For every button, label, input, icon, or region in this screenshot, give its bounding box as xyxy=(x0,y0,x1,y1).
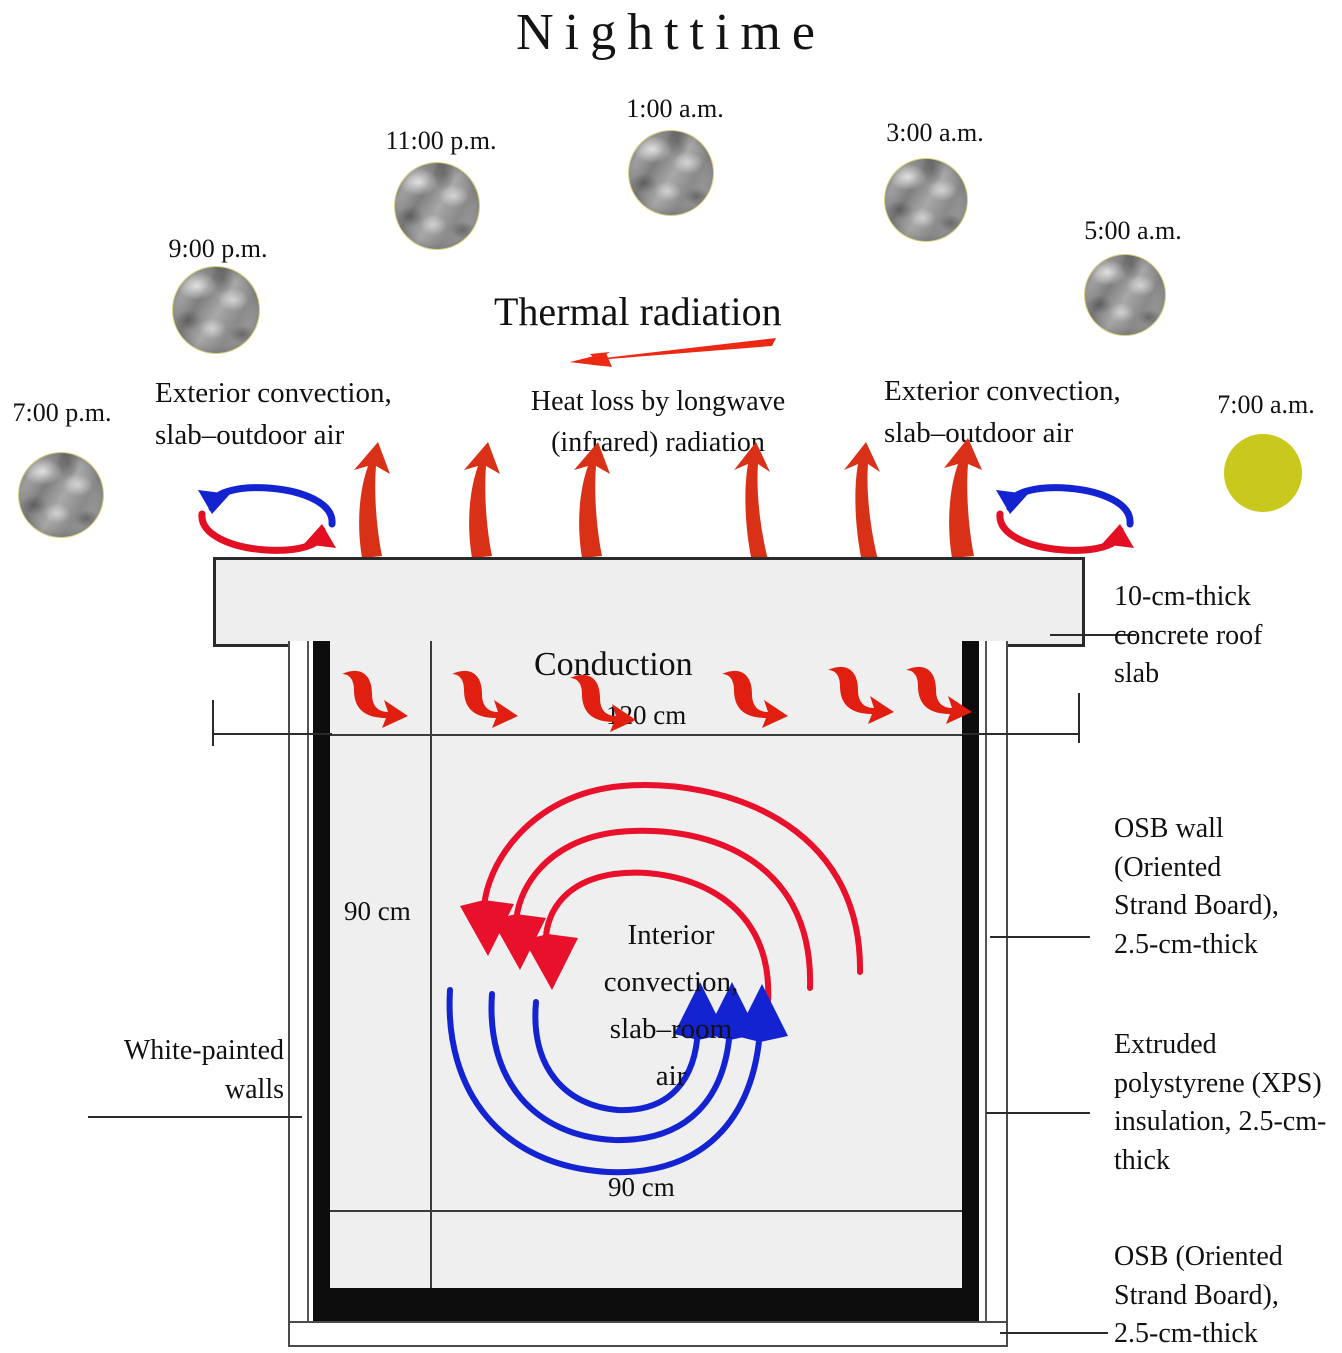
moon-1am-icon xyxy=(628,130,714,216)
osb-floor-annotation: OSB (Oriented Strand Board), 2.5-cm-thic… xyxy=(1114,1238,1342,1353)
conduction-arrow-3 xyxy=(570,675,636,732)
sun-7am-icon xyxy=(1224,434,1302,512)
nighttime-heat-transfer-diagram: Nighttime 7:00 p.m. 9:00 p.m. 11:00 p.m.… xyxy=(0,0,1342,1353)
moon-5am-label: 5:00 a.m. xyxy=(1058,216,1208,247)
white-paint-line-right xyxy=(985,641,987,1321)
radiation-arrow-3 xyxy=(574,442,610,558)
thermal-radiation-title: Thermal radiation xyxy=(494,288,782,335)
osb-floor-plate xyxy=(288,1321,1008,1347)
radiation-arrow-2 xyxy=(464,442,500,558)
room-width-dimension-label: 90 cm xyxy=(608,1172,675,1204)
radiation-arrow-1 xyxy=(354,442,390,558)
xps-annotation: Extruded polystyrene (XPS) insulation, 2… xyxy=(1114,1026,1342,1181)
xps-insulation-right xyxy=(962,641,979,1321)
conduction-arrow-1 xyxy=(342,671,408,728)
white-paint-line-left xyxy=(307,641,309,1321)
moon-3am-icon xyxy=(884,158,968,242)
concrete-roof-slab xyxy=(213,557,1085,647)
moon-9pm-icon xyxy=(172,266,260,354)
osb-wall-leader-line xyxy=(990,936,1090,938)
dimension-tick-left xyxy=(212,700,214,746)
osb-wall-annotation: OSB wall (Oriented Strand Board), 2.5-cm… xyxy=(1114,810,1342,965)
conduction-arrow-6 xyxy=(906,667,972,724)
radiation-arrow-6 xyxy=(944,438,982,558)
thermal-radiation-arrow-icon xyxy=(566,336,786,376)
dimension-leader-right xyxy=(962,733,1080,735)
moon-11pm-label: 11:00 p.m. xyxy=(366,126,516,157)
moon-7pm-icon xyxy=(18,452,104,538)
conduction-arrow-4 xyxy=(722,671,788,728)
roof-slab-annotation: 10-cm-thick concrete roof slab xyxy=(1114,578,1334,694)
xps-leader-line xyxy=(986,1112,1090,1114)
interior-convection-label: Interior convection, slab–room air xyxy=(566,912,776,1100)
upward-radiation-arrows-group xyxy=(330,440,990,565)
white-walls-annotation: White-painted walls xyxy=(84,1032,284,1109)
dimension-leader-left xyxy=(212,733,332,735)
dimension-tick-right xyxy=(1078,693,1080,743)
radiation-arrow-5 xyxy=(844,442,880,562)
conduction-arrow-5 xyxy=(828,667,894,724)
white-walls-leader-line xyxy=(88,1116,302,1118)
room-height-dimension-label: 90 cm xyxy=(344,896,411,928)
xps-insulation-bottom xyxy=(313,1288,979,1321)
moon-1am-label: 1:00 a.m. xyxy=(600,94,750,125)
sun-7am-label: 7:00 a.m. xyxy=(1196,390,1336,421)
radiation-arrow-4 xyxy=(734,442,770,562)
moon-3am-label: 3:00 a.m. xyxy=(860,118,1010,149)
xps-insulation-left xyxy=(313,641,330,1321)
moon-5am-icon xyxy=(1084,254,1166,336)
moon-9pm-label: 9:00 p.m. xyxy=(148,234,288,265)
interior-divider-floor xyxy=(330,1210,962,1212)
osb-floor-leader-line xyxy=(1000,1332,1108,1334)
exterior-convection-loop-right-icon xyxy=(988,462,1138,544)
conduction-arrow-2 xyxy=(452,671,518,728)
exterior-convection-loop-left-icon xyxy=(190,462,340,544)
moon-7pm-label: 7:00 p.m. xyxy=(0,398,132,429)
conduction-arrows-group xyxy=(330,662,970,740)
moon-11pm-icon xyxy=(394,162,480,250)
page-title: Nighttime xyxy=(0,2,1342,63)
